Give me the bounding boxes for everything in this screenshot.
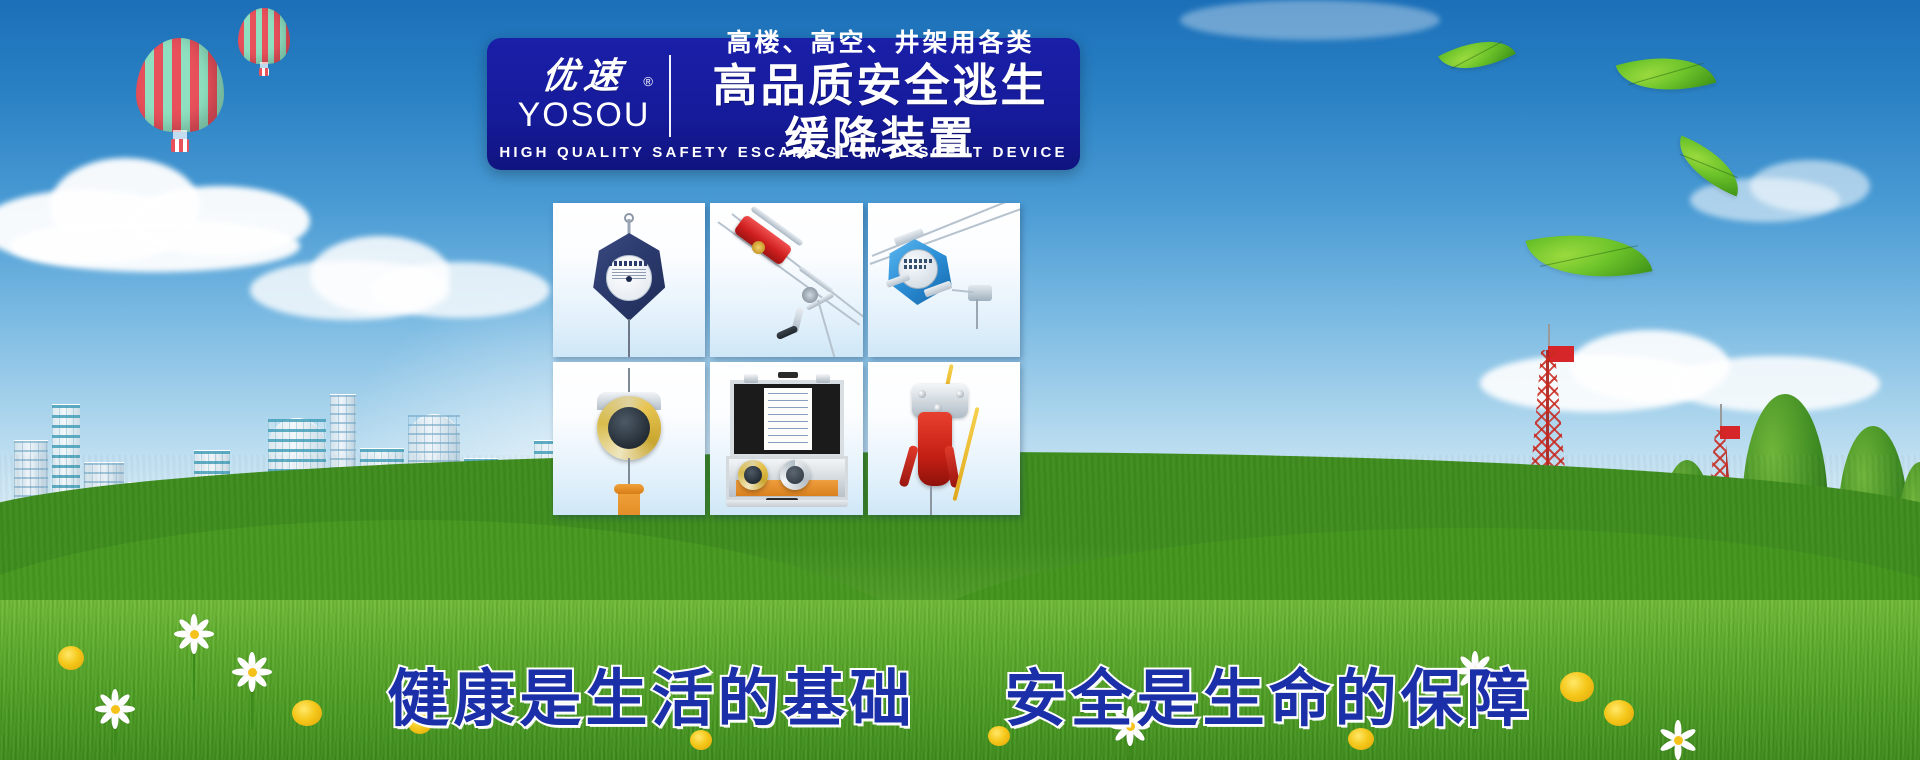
hot-air-balloon-large bbox=[136, 38, 224, 158]
headline-badge: 优速 ® YOSOU 高楼、高空、井架用各类 高品质安全逃生缓降装置 HIGH … bbox=[487, 38, 1080, 170]
product-tile-aluminum-tool-case[interactable] bbox=[710, 362, 862, 516]
slogan-part-2: 安全是生命的保障 bbox=[1005, 662, 1533, 735]
hot-air-balloon-small bbox=[238, 8, 290, 78]
headline-tagline-en: HIGH QUALITY SAFETY ESCAPE SLOW DESCENT … bbox=[487, 144, 1080, 161]
logo-divider bbox=[669, 55, 671, 137]
product-tile-fall-arrester-navy[interactable] bbox=[553, 203, 705, 357]
bottom-slogan: 健康是生活的基础 安全是生命的保障 bbox=[0, 648, 1920, 738]
product-tile-blue-trolley-clamp[interactable] bbox=[868, 203, 1020, 357]
product-tile-gold-disc-descender[interactable] bbox=[553, 362, 705, 516]
product-gallery bbox=[553, 203, 1020, 515]
promo-banner: 优速 ® YOSOU 高楼、高空、井架用各类 高品质安全逃生缓降装置 HIGH … bbox=[0, 0, 1920, 760]
slogan-part-1: 健康是生活的基础 bbox=[387, 662, 915, 735]
brand-logo[interactable]: 优速 ® YOSOU bbox=[509, 58, 659, 134]
headline-subtitle: 高楼、高空、井架用各类 bbox=[697, 27, 1064, 58]
brand-logo-cn: 优速 bbox=[540, 58, 628, 94]
product-tile-red-winch-cable[interactable] bbox=[710, 203, 862, 357]
brand-logo-en: YOSOU bbox=[518, 98, 651, 134]
registered-trademark-icon: ® bbox=[643, 74, 653, 89]
product-tile-red-rope-grab[interactable] bbox=[868, 362, 1020, 516]
